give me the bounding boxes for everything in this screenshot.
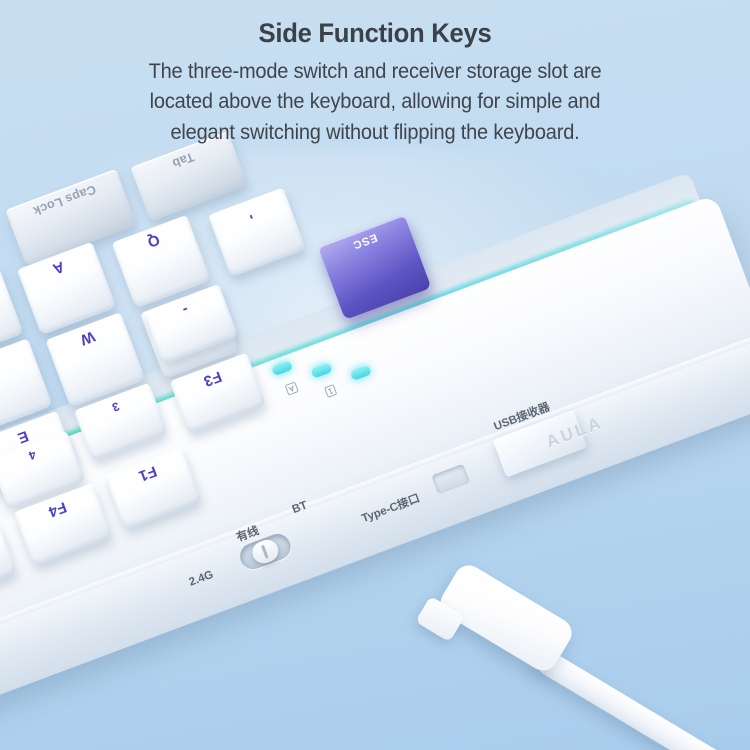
key-apostrophe[interactable]: ' [208,187,306,277]
key-label: Caps Lock [31,183,97,218]
key-label: 4 [26,448,37,462]
key-label: 3 [110,400,121,414]
key-label: ESC [351,231,379,250]
key-label: ' [245,205,254,220]
page-subtitle: The three-mode switch and receiver stora… [26,56,724,147]
key-label: F3 [201,368,223,388]
key-label: S [0,356,1,374]
usb-c-cable [420,560,750,750]
product-marketing-image: Side Function Keys The three-mode switch… [0,0,750,750]
key-label: F4 [46,499,68,519]
key-label: - [180,302,190,318]
subtitle-line-3: elegant switching without flipping the k… [26,117,724,147]
key-label: W [78,328,97,347]
key-label: E [15,428,30,446]
key-label: A [51,258,67,276]
cable-cord [534,648,750,750]
key-label: Q [145,231,161,249]
subtitle-line-1: The three-mode switch and receiver stora… [26,56,724,86]
page-title: Side Function Keys [19,18,732,49]
header: Side Function Keys The three-mode switch… [0,0,750,147]
subtitle-line-2: located above the keyboard, allowing for… [26,86,724,116]
key-label: Tab [170,150,195,169]
key-label: F1 [136,463,158,483]
